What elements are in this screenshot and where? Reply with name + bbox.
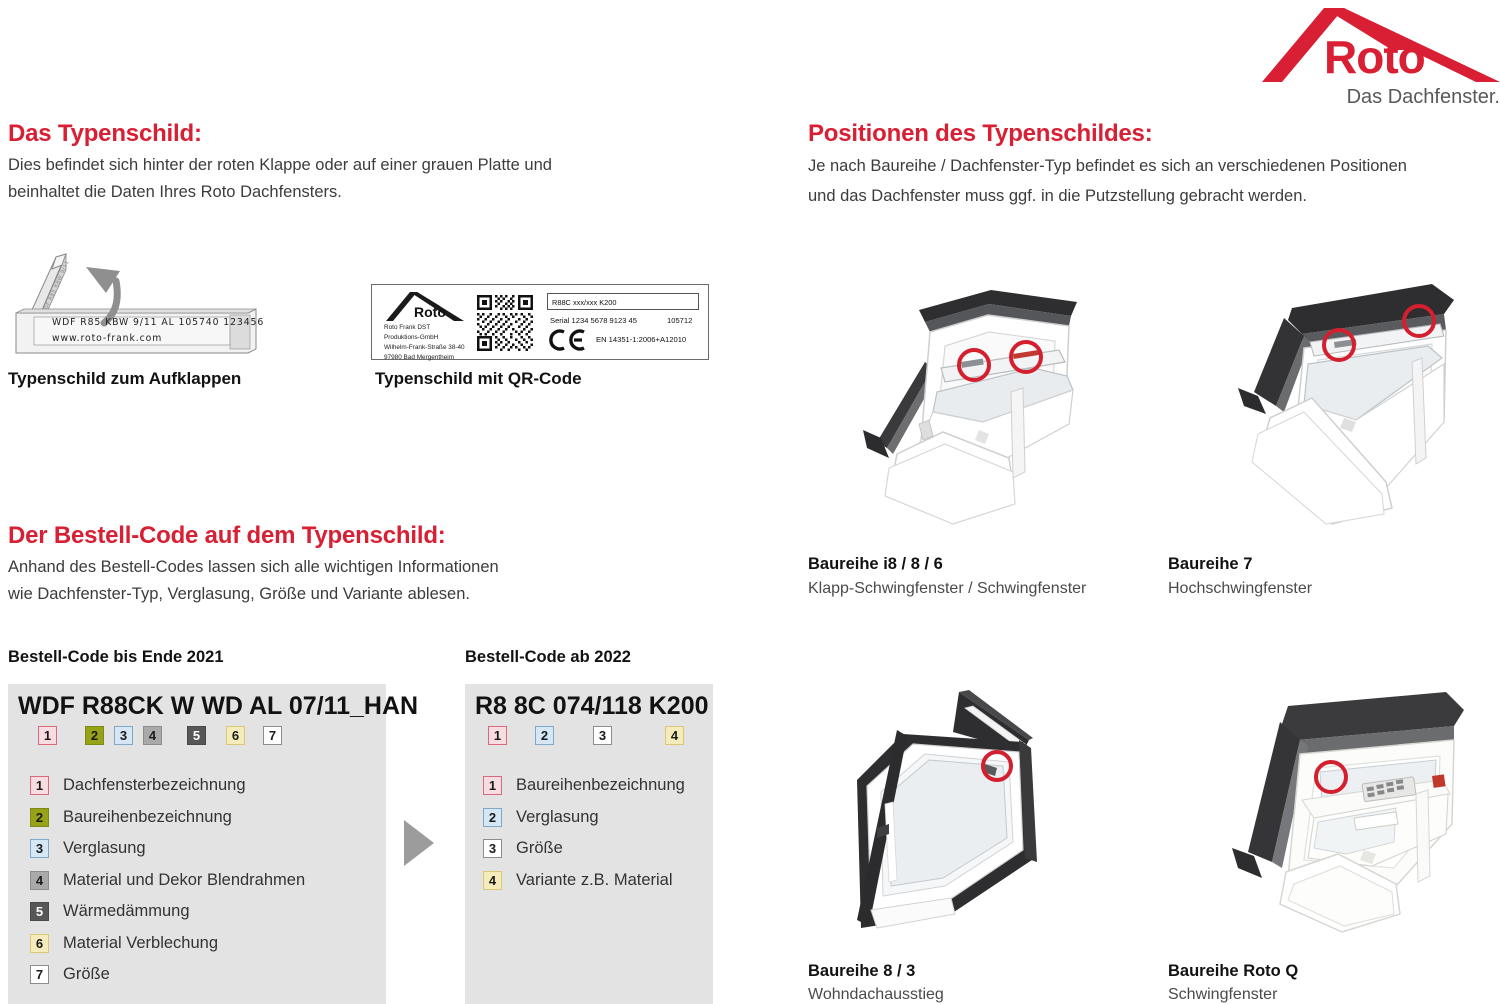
caption-title-window-4: Baureihe Roto Q — [1168, 962, 1298, 981]
caption-sub-window-1: Klapp-Schwingfenster / Schwingfenster — [808, 580, 1086, 598]
legend-label: Variante z.B. Material — [516, 871, 673, 890]
code-marker-1: 1 — [38, 726, 57, 745]
label-address-line3: Wilhelm-Frank-Straße 38-40 — [384, 343, 465, 353]
legend-badge-4: 4 — [30, 871, 49, 890]
label-roto-wordmark: Roto — [414, 304, 446, 320]
code-marker-7: 7 — [263, 726, 282, 745]
legend-row: 1Dachfensterbezeichnung — [30, 776, 380, 795]
legend-badge-3: 3 — [483, 839, 502, 858]
caption-typenschild-flip: Typenschild zum Aufklappen — [8, 369, 241, 389]
heading-typenschild: Das Typenschild: — [8, 120, 202, 148]
label-address-line2: Produktions-GmbH — [384, 333, 465, 343]
roto-tagline: Das Dachfenster. — [1330, 86, 1500, 109]
caption-typenschild-qr: Typenschild mit QR-Code — [375, 369, 582, 389]
heading-bestellcode: Der Bestell-Code auf dem Typenschild: — [8, 522, 446, 550]
roto-logo: Roto Das Dachfenster. — [1262, 8, 1500, 118]
code-box-old: WDF R88CK W WD AL 07/11_HAN 1234567 1Dac… — [8, 684, 386, 1004]
caption-sub-window-3: Wohndachausstieg — [808, 986, 944, 1004]
ce-mark-icon — [548, 329, 590, 351]
flip-plate-drawing: WDF R85 KBW 9/11 — [8, 245, 278, 365]
highlight-ring — [957, 348, 991, 382]
legend-row: 4Variante z.B. Material — [483, 871, 713, 890]
legend-label: Dachfensterbezeichnung — [63, 776, 246, 795]
flip-plate-code-text: WDF R85 KBW 9/11 AL 105740 123456 — [52, 317, 264, 328]
typenschild-flip-illustration: WDF R85 KBW 9/11 WDF R85 KBW 9/11 AL 105… — [8, 245, 278, 365]
label-type-field-text: R88C xxx/xxx K200 — [552, 298, 617, 307]
window-photo-i8-8-6 — [833, 272, 1113, 530]
window-photo-baureihe-8-3 — [833, 682, 1113, 940]
legend-label: Baureihenbezeichnung — [516, 776, 685, 795]
legend-label: Verglasung — [63, 839, 146, 858]
code-box-new: R8 8C 074/118 K200 1234 1Baureihenbezeic… — [465, 684, 713, 1004]
legend-badge-2: 2 — [483, 808, 502, 827]
paragraph-bestellcode: Anhand des Bestell-Codes lassen sich all… — [8, 554, 568, 607]
highlight-ring — [981, 750, 1013, 782]
qr-code-icon — [476, 294, 534, 352]
caption-title-window-2: Baureihe 7 — [1168, 555, 1252, 574]
caption-title-window-1: Baureihe i8 / 8 / 6 — [808, 555, 943, 574]
code-marker-4: 4 — [665, 726, 684, 745]
legend-row: 6Material Verblechung — [30, 934, 380, 953]
legend-label: Material und Dekor Blendrahmen — [63, 871, 305, 890]
label-address-line1: Roto Frank DST — [384, 323, 465, 333]
legend-label: Material Verblechung — [63, 934, 218, 953]
label-address: Roto Frank DST Produktions-GmbH Wilhelm-… — [384, 323, 465, 363]
legend-row: 2Baureihenbezeichnung — [30, 808, 380, 827]
paragraph-typenschild-line1: Dies befindet sich hinter der roten Klap… — [8, 152, 608, 179]
window-photo-baureihe-roto-q — [1196, 682, 1476, 940]
paragraph-typenschild-line2: beinhaltet die Daten Ihres Roto Dachfens… — [8, 179, 608, 206]
paragraph-typenschild: Dies befindet sich hinter der roten Klap… — [8, 152, 608, 205]
legend-badge-3: 3 — [30, 839, 49, 858]
caption-sub-window-4: Schwingfenster — [1168, 986, 1277, 1004]
heading-positionen: Positionen des Typenschildes: — [808, 120, 1153, 148]
legend-row: 3Verglasung — [30, 839, 380, 858]
legend-label: Verglasung — [516, 808, 599, 827]
code-new-string: R8 8C 074/118 K200 — [475, 692, 709, 721]
caption-sub-window-2: Hochschwingfenster — [1168, 580, 1312, 598]
highlight-ring — [1402, 304, 1436, 338]
code-marker-2: 2 — [85, 726, 104, 745]
code-marker-3: 3 — [114, 726, 133, 745]
legend-label: Größe — [516, 839, 563, 858]
window-photo-baureihe-7 — [1196, 272, 1476, 530]
legend-badge-1: 1 — [30, 776, 49, 795]
legend-row: 7Größe — [30, 965, 380, 984]
code-new-legend: 1Baureihenbezeichnung2Verglasung3Größe4V… — [483, 776, 713, 902]
flip-plate-url-text: www.roto-frank.com — [52, 333, 162, 344]
caption-title-window-3: Baureihe 8 / 3 — [808, 962, 915, 981]
title-code-old: Bestell-Code bis Ende 2021 — [8, 648, 224, 667]
title-code-new: Bestell-Code ab 2022 — [465, 648, 631, 667]
arrow-right-icon — [404, 820, 434, 866]
highlight-ring — [1322, 328, 1356, 362]
code-old-string: WDF R88CK W WD AL 07/11_HAN — [18, 692, 418, 721]
code-marker-3: 3 — [593, 726, 612, 745]
label-address-line4: 97980 Bad Mergentheim — [384, 353, 465, 363]
code-new-markers: 1234 — [483, 726, 713, 746]
legend-label: Größe — [63, 965, 110, 984]
code-marker-4: 4 — [143, 726, 162, 745]
code-old-legend: 1Dachfensterbezeichnung2Baureihenbezeich… — [30, 776, 380, 997]
label-serial-number: 105712 — [667, 316, 692, 325]
paragraph-positionen: Je nach Baureihe / Dachfenster-Typ befin… — [808, 152, 1498, 211]
legend-row: 1Baureihenbezeichnung — [483, 776, 713, 795]
label-serial: Serial 1234 5678 9123 45 — [550, 316, 637, 325]
paragraph-positionen-line2: und das Dachfenster muss ggf. in die Put… — [808, 182, 1498, 212]
typenschild-qr-illustration: Roto Roto Frank DST Produktions-GmbH Wil… — [371, 284, 709, 360]
legend-label: Wärmedämmung — [63, 902, 190, 921]
legend-row: 4Material und Dekor Blendrahmen — [30, 871, 380, 890]
label-norm: EN 14351-1:2006+A12010 — [596, 335, 686, 344]
label-roto-logo: Roto — [384, 290, 468, 324]
legend-row: 2Verglasung — [483, 808, 713, 827]
code-old-markers: 1234567 — [30, 726, 370, 746]
legend-badge-2: 2 — [30, 808, 49, 827]
paragraph-positionen-line1: Je nach Baureihe / Dachfenster-Typ befin… — [808, 152, 1498, 182]
paragraph-bestellcode-line1: Anhand des Bestell-Codes lassen sich all… — [8, 554, 568, 581]
legend-badge-4: 4 — [483, 871, 502, 890]
roto-wordmark: Roto — [1324, 30, 1425, 84]
highlight-ring — [1314, 760, 1348, 794]
legend-row: 3Größe — [483, 839, 713, 858]
code-marker-5: 5 — [187, 726, 206, 745]
legend-badge-7: 7 — [30, 965, 49, 984]
label-type-field: R88C xxx/xxx K200 — [547, 293, 699, 310]
legend-badge-1: 1 — [483, 776, 502, 795]
legend-label: Baureihenbezeichnung — [63, 808, 232, 827]
code-marker-6: 6 — [226, 726, 245, 745]
code-marker-2: 2 — [535, 726, 554, 745]
legend-badge-5: 5 — [30, 902, 49, 921]
legend-badge-6: 6 — [30, 934, 49, 953]
legend-row: 5Wärmedämmung — [30, 902, 380, 921]
code-marker-1: 1 — [488, 726, 507, 745]
paragraph-bestellcode-line2: wie Dachfenster-Typ, Verglasung, Größe u… — [8, 581, 568, 608]
highlight-ring — [1009, 340, 1043, 374]
